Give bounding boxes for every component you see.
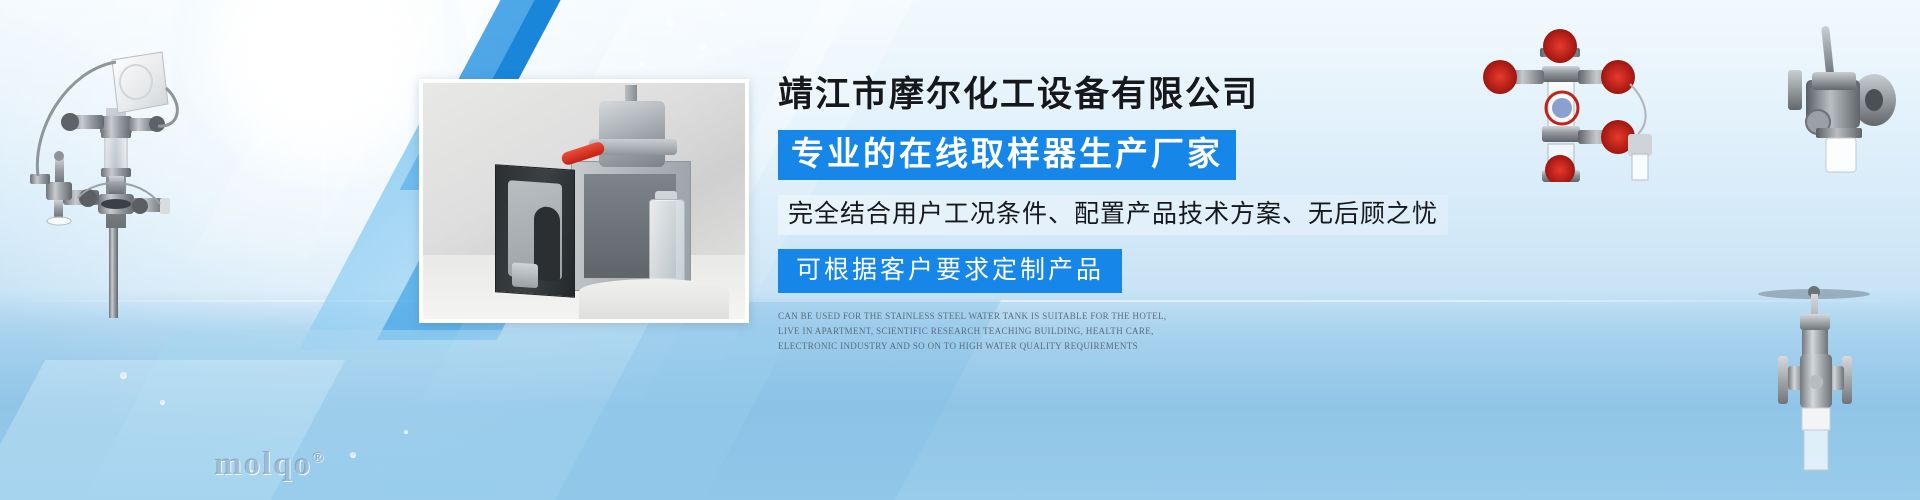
right-product-image-lever-valve [1788,18,1913,193]
english-description: CAN BE USED FOR THE STAINLESS STEEL WATE… [778,309,1190,354]
tagline-badge: 可根据客户要求定制产品 [778,249,1122,293]
watermark-text: molqo [214,446,312,482]
water-droplet-icon [666,18,675,27]
left-product-image [8,18,218,318]
right-product-image-manifold [1478,22,1708,182]
water-droplet-icon [350,452,356,458]
water-droplet-icon [700,44,706,50]
company-name: 靖江市摩尔化工设备有限公司 [778,74,1398,116]
watermark-logo: molqo® [214,446,325,483]
water-droplet-icon [120,372,127,379]
water-droplet-icon [404,430,408,434]
water-droplet-icon [720,12,724,16]
registered-mark-icon: ® [312,450,325,466]
water-droplet-icon [640,62,645,67]
sample-bottle-icon [649,199,685,285]
promo-banner: 靖江市摩尔化工设备有限公司 专业的在线取样器生产厂家 完全结合用户工况条件、配置… [0,0,1920,500]
sub-headline: 完全结合用户工况条件、配置产品技术方案、无后顾之忧 [778,195,1448,235]
right-product-image-gate-valve [1742,282,1892,487]
headline-badge: 专业的在线取样器生产厂家 [778,130,1236,180]
center-product-photo [419,79,749,323]
banner-text-column: 靖江市摩尔化工设备有限公司 专业的在线取样器生产厂家 完全结合用户工况条件、配置… [778,74,1398,354]
water-droplet-icon [160,400,165,405]
